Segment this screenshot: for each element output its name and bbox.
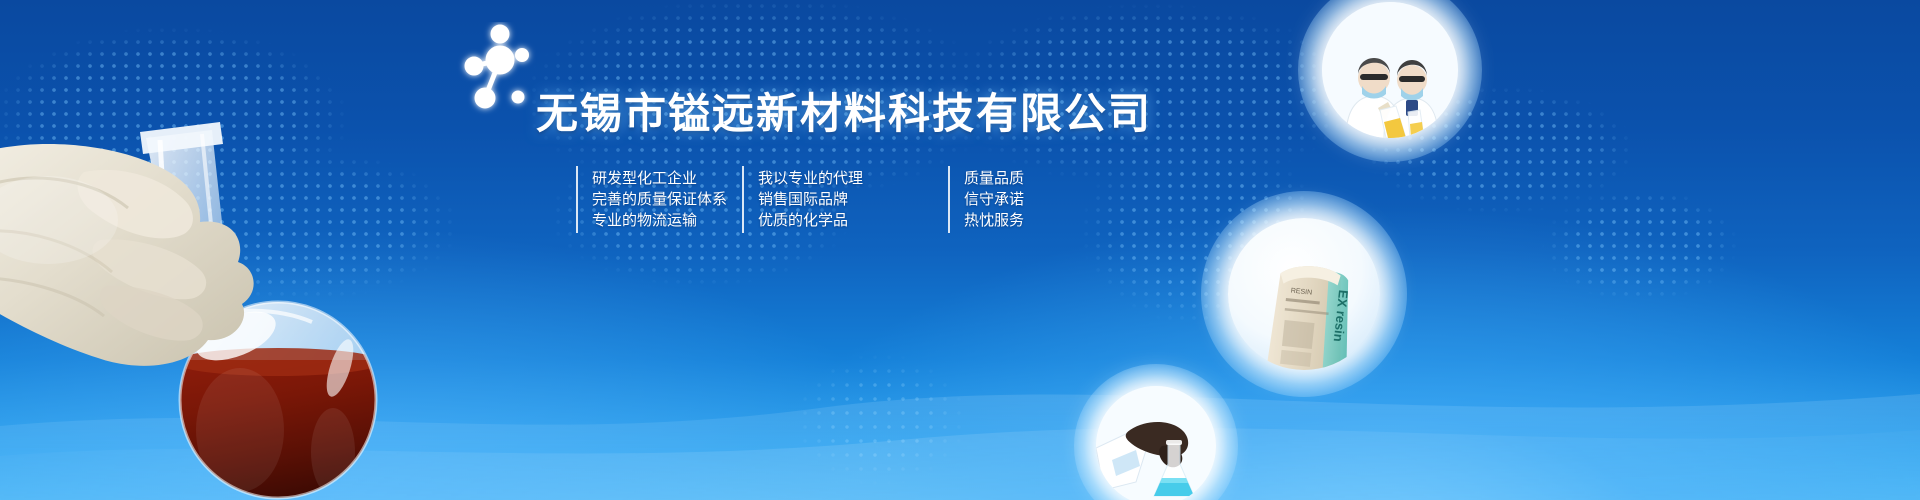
gloved-hand-holding-round-bottom-flask-with-dark-red-liquid-image <box>0 100 408 500</box>
tagline-line: 信守承诺 <box>964 189 1114 210</box>
tagline-line: 专业的物流运输 <box>592 210 742 231</box>
tagline-columns: 研发型化工企业 完善的质量保证体系 专业的物流运输 我以专业的代理 销售国际品牌… <box>576 166 1114 233</box>
tagline-column-two: 我以专业的代理 销售国际品牌 优质的化学品 <box>742 166 948 233</box>
company-title: 无锡市镒远新材料科技有限公司 <box>536 90 1152 138</box>
bubble-photo: RESIN EX resin <box>1228 218 1380 370</box>
tagline-line: 销售国际品牌 <box>758 189 948 210</box>
bubble-hand-with-cyan-flask <box>1096 386 1216 500</box>
tagline-column-three: 质量品质 信守承诺 热忱服务 <box>948 166 1114 233</box>
bubble-two-lab-technicians <box>1322 2 1458 138</box>
paper-sack-of-resin-illustration: RESIN EX resin <box>1228 218 1380 370</box>
tagline-line: 优质的化学品 <box>758 210 948 231</box>
tagline-line: 完善的质量保证体系 <box>592 189 742 210</box>
tagline-line: 研发型化工企业 <box>592 168 742 189</box>
tagline-column-one: 研发型化工企业 完善的质量保证体系 专业的物流运输 <box>576 166 742 233</box>
hero-banner: 无锡市镒远新材料科技有限公司 研发型化工企业 完善的质量保证体系 专业的物流运输… <box>0 0 1920 500</box>
bubble-photo <box>1322 2 1458 138</box>
tagline-line: 我以专业的代理 <box>758 168 948 189</box>
tagline-line: 热忱服务 <box>964 210 1114 231</box>
two-lab-technicians-illustration <box>1322 2 1458 138</box>
tagline-line: 质量品质 <box>964 168 1114 189</box>
gloved-hand-holding-cyan-flask-illustration <box>1096 386 1216 500</box>
bubble-photo <box>1096 386 1216 500</box>
bubble-resin-sack: RESIN EX resin <box>1228 218 1380 370</box>
